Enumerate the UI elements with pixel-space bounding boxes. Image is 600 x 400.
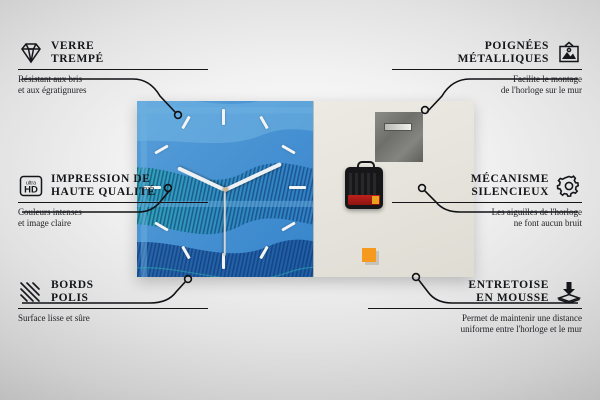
callout-title: ENTRETOISEEN MOUSSE [468, 279, 549, 305]
callout-poignees-metalliques: POIGNÉESMÉTALLIQUES Facilite le montaged… [392, 40, 582, 96]
callout-title: POIGNÉESMÉTALLIQUES [458, 40, 549, 66]
callout-title: IMPRESSION DEHAUTE QUALITÉ [51, 173, 156, 199]
callout-mecanisme-silencieux: MÉCANISMESILENCIEUX Les aiguilles de l'h… [392, 173, 582, 229]
polished-edges-icon [18, 280, 44, 304]
callout-title: MÉCANISMESILENCIEUX [471, 173, 549, 199]
callout-header: ENTRETOISEEN MOUSSE [368, 279, 582, 305]
callout-header: MÉCANISMESILENCIEUX [392, 173, 582, 199]
gear-icon [556, 174, 582, 198]
diamond-icon [18, 41, 44, 65]
callout-description: Couleurs intenseset image claire [18, 207, 208, 229]
clock-movement [345, 167, 383, 209]
callout-rule [392, 69, 582, 70]
callout-description: Permet de maintenir une distanceuniforme… [368, 313, 582, 335]
callout-verre-trempe: VERRETREMPÉ Résistant aux briset aux égr… [18, 40, 208, 96]
battery-terminal [372, 196, 379, 204]
callout-description: Facilite le montagede l'horloge sur le m… [392, 74, 582, 96]
second-hand [224, 190, 226, 256]
callout-title: BORDSPOLIS [51, 279, 94, 305]
hanger-slot [384, 123, 412, 131]
callout-rule [18, 202, 208, 203]
battery [348, 195, 380, 205]
picture-hanger-icon [556, 41, 582, 65]
hour-marker-3 [289, 186, 306, 189]
foam-spacer [362, 248, 376, 262]
infographic-canvas: VERRETREMPÉ Résistant aux briset aux égr… [0, 0, 600, 400]
movement-housing [349, 173, 379, 195]
callout-title: VERRETREMPÉ [51, 40, 104, 66]
metal-hanger-plate [375, 112, 423, 162]
foam-spacer-icon [556, 280, 582, 304]
callout-header: POIGNÉESMÉTALLIQUES [392, 40, 582, 66]
callout-header: ultra HD IMPRESSION DEHAUTE QUALITÉ [18, 173, 208, 199]
hour-marker-12 [222, 109, 225, 125]
callout-bords-polis: BORDSPOLIS Surface lisse et sûre [18, 279, 208, 324]
svg-text:HD: HD [24, 185, 38, 196]
callout-description: Résistant aux briset aux égratignures [18, 74, 208, 96]
callout-description: Surface lisse et sûre [18, 313, 208, 324]
callout-header: VERRETREMPÉ [18, 40, 208, 66]
callout-rule [392, 202, 582, 203]
callout-entretoise-en-mousse: ENTRETOISEEN MOUSSE Permet de maintenir … [368, 279, 582, 335]
ultra-hd-icon: ultra HD [18, 174, 44, 198]
callout-rule [18, 308, 208, 309]
callout-impression-haute-qualite: ultra HD IMPRESSION DEHAUTE QUALITÉ Coul… [18, 173, 208, 229]
clock-hub [223, 187, 228, 192]
callout-rule [368, 308, 582, 309]
callout-description: Les aiguilles de l'horlogene font aucun … [392, 207, 582, 229]
callout-header: BORDSPOLIS [18, 279, 208, 305]
callout-rule [18, 69, 208, 70]
movement-loop [357, 161, 375, 172]
